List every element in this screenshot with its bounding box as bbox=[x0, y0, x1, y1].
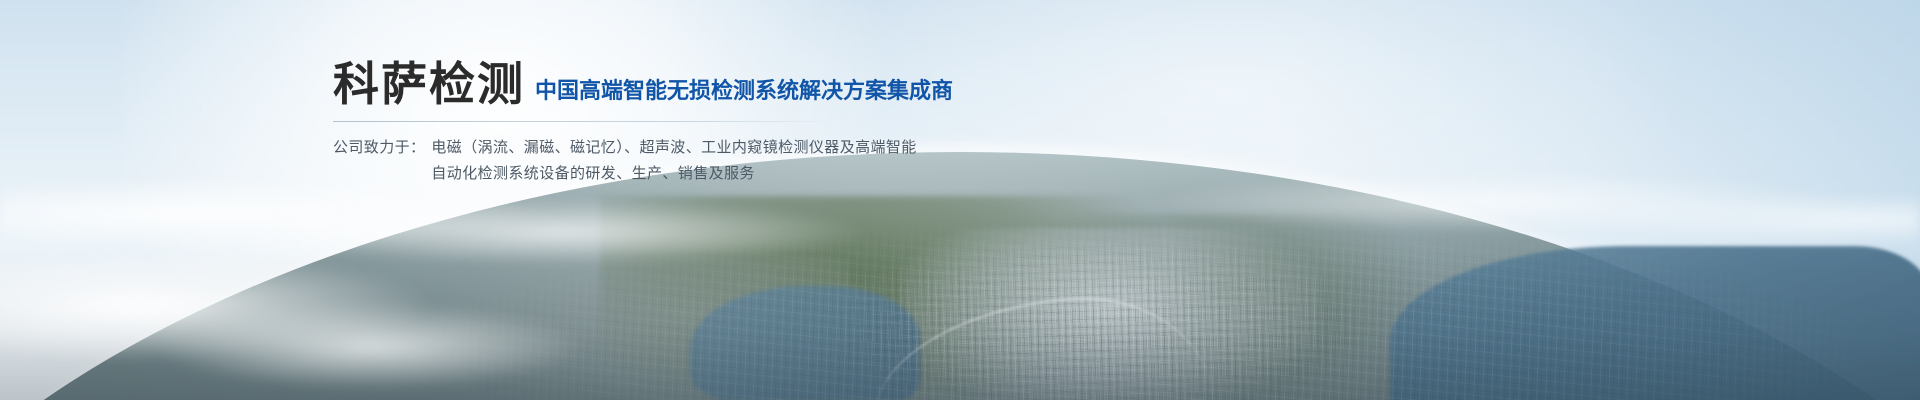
company-description: 公司致力于： 电磁（涡流、漏磁、磁记忆）、超声波、工业内窥镜检测仪器及高端智能 … bbox=[333, 134, 1213, 186]
divider-rule bbox=[333, 121, 833, 122]
description-lines: 电磁（涡流、漏磁、磁记忆）、超声波、工业内窥镜检测仪器及高端智能 自动化检测系统… bbox=[431, 134, 1213, 186]
banner-content: 科萨检测 中国高端智能无损检测系统解决方案集成商 公司致力于： 电磁（涡流、漏磁… bbox=[333, 60, 1213, 186]
hero-banner: 科萨检测 中国高端智能无损检测系统解决方案集成商 公司致力于： 电磁（涡流、漏磁… bbox=[0, 0, 1920, 400]
company-name: 科萨检测 bbox=[333, 60, 525, 110]
description-line-1: 电磁（涡流、漏磁、磁记忆）、超声波、工业内窥镜检测仪器及高端智能 bbox=[431, 134, 1213, 160]
description-label: 公司致力于： bbox=[333, 134, 431, 160]
company-tagline: 中国高端智能无损检测系统解决方案集成商 bbox=[535, 73, 953, 105]
headline: 科萨检测 中国高端智能无损检测系统解决方案集成商 bbox=[333, 60, 1213, 110]
description-line-2: 自动化检测系统设备的研发、生产、销售及服务 bbox=[431, 160, 1213, 186]
